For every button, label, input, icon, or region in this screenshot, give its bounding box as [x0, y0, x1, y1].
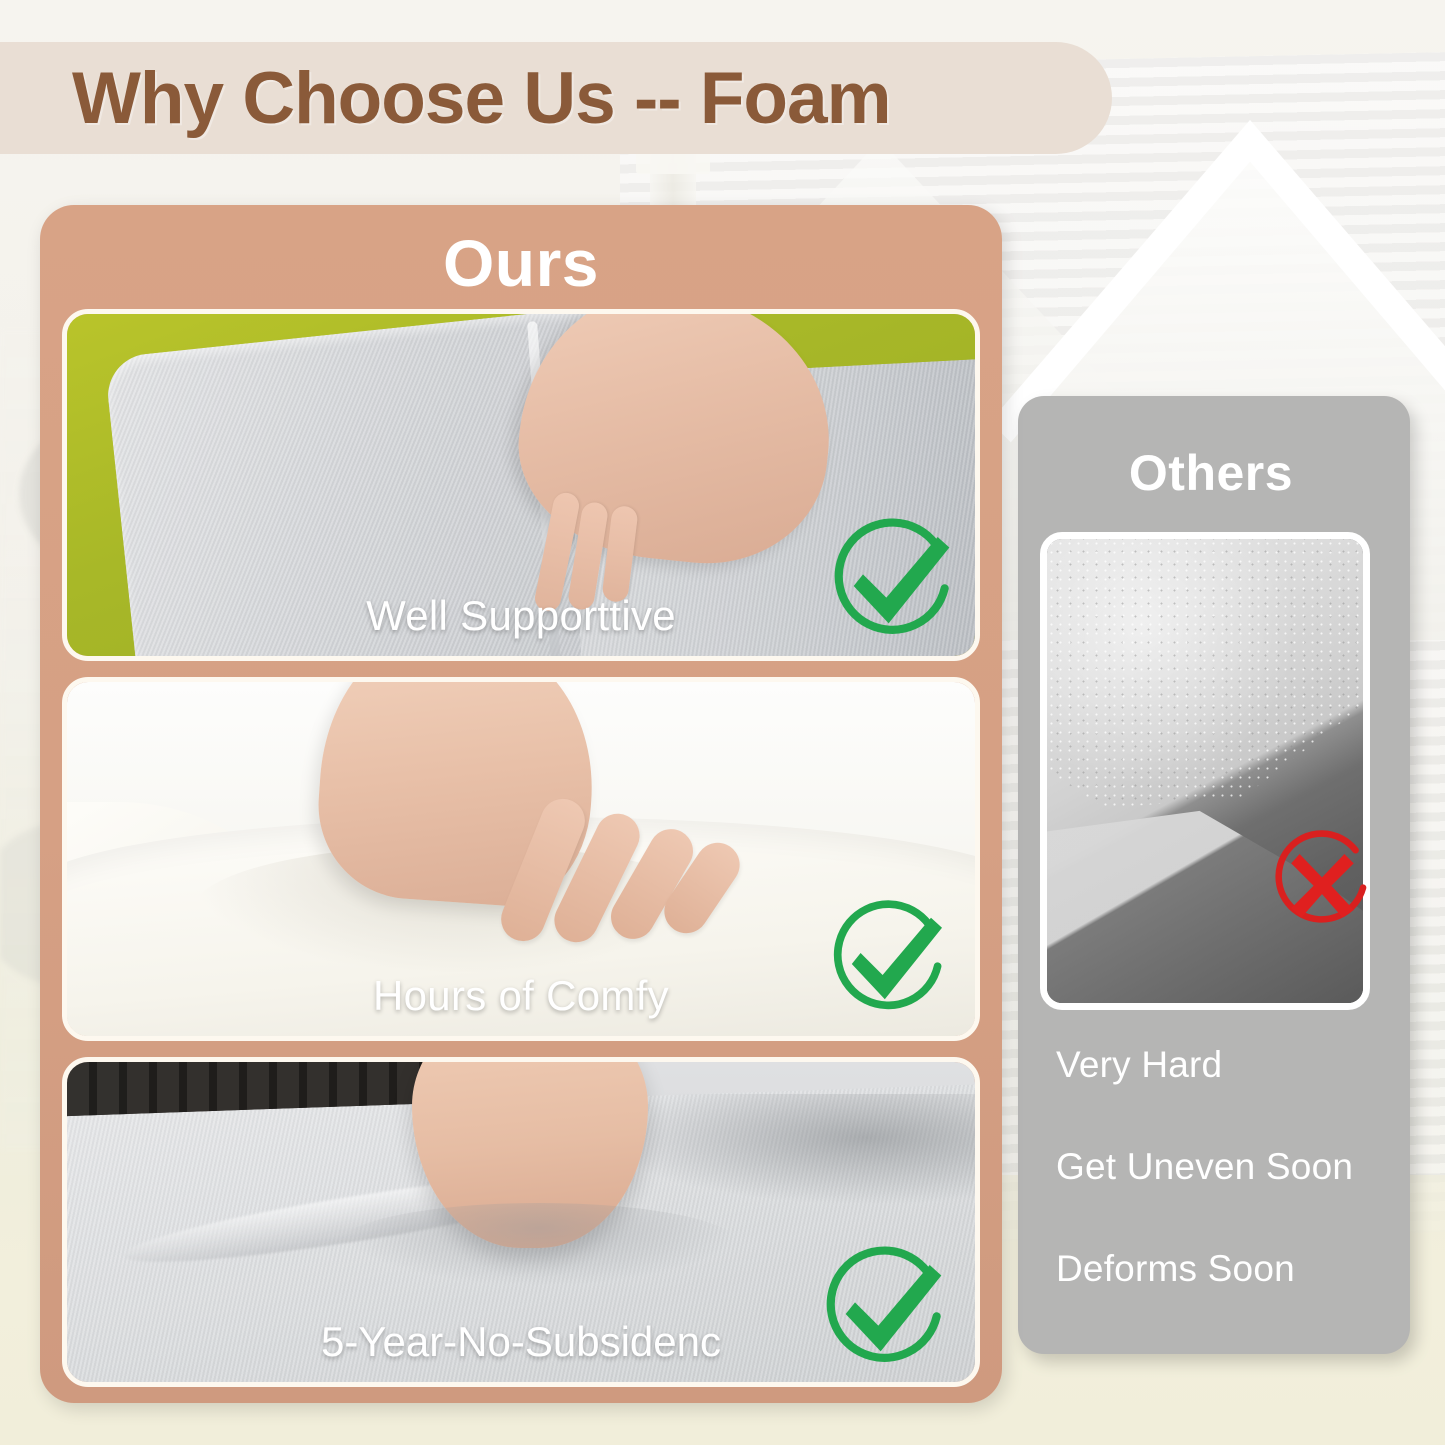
cushion-shadow	[612, 1094, 975, 1203]
others-panel: Others Very Hard Get Uneven Soon Deforms…	[1018, 396, 1410, 1354]
foam-texture-speckle	[1047, 539, 1363, 808]
ours-photo-card-3: 5-Year-No-Subsidenc	[62, 1057, 980, 1387]
ours-photo-card-2: Hours of Comfy	[62, 677, 980, 1041]
ours-panel: Ours Well Supporttive	[40, 205, 1002, 1403]
page-title: Why Choose Us -- Foam	[72, 57, 891, 140]
check-icon	[813, 1244, 953, 1384]
cross-icon	[1266, 826, 1378, 938]
others-photo-card	[1040, 532, 1370, 1010]
others-heading: Others	[1018, 444, 1410, 502]
others-cons-list: Very Hard Get Uneven Soon Deforms Soon	[1018, 1044, 1410, 1350]
con-item: Deforms Soon	[1018, 1248, 1410, 1290]
cushion-dent	[339, 1203, 739, 1286]
check-icon	[821, 516, 961, 656]
title-banner: Why Choose Us -- Foam	[0, 42, 1112, 154]
ours-heading: Ours	[40, 225, 1002, 301]
check-icon	[821, 898, 953, 1030]
con-item: Get Uneven Soon	[1018, 1146, 1410, 1188]
ours-photo-card-1: Well Supporttive	[62, 309, 980, 661]
con-item: Very Hard	[1018, 1044, 1410, 1086]
